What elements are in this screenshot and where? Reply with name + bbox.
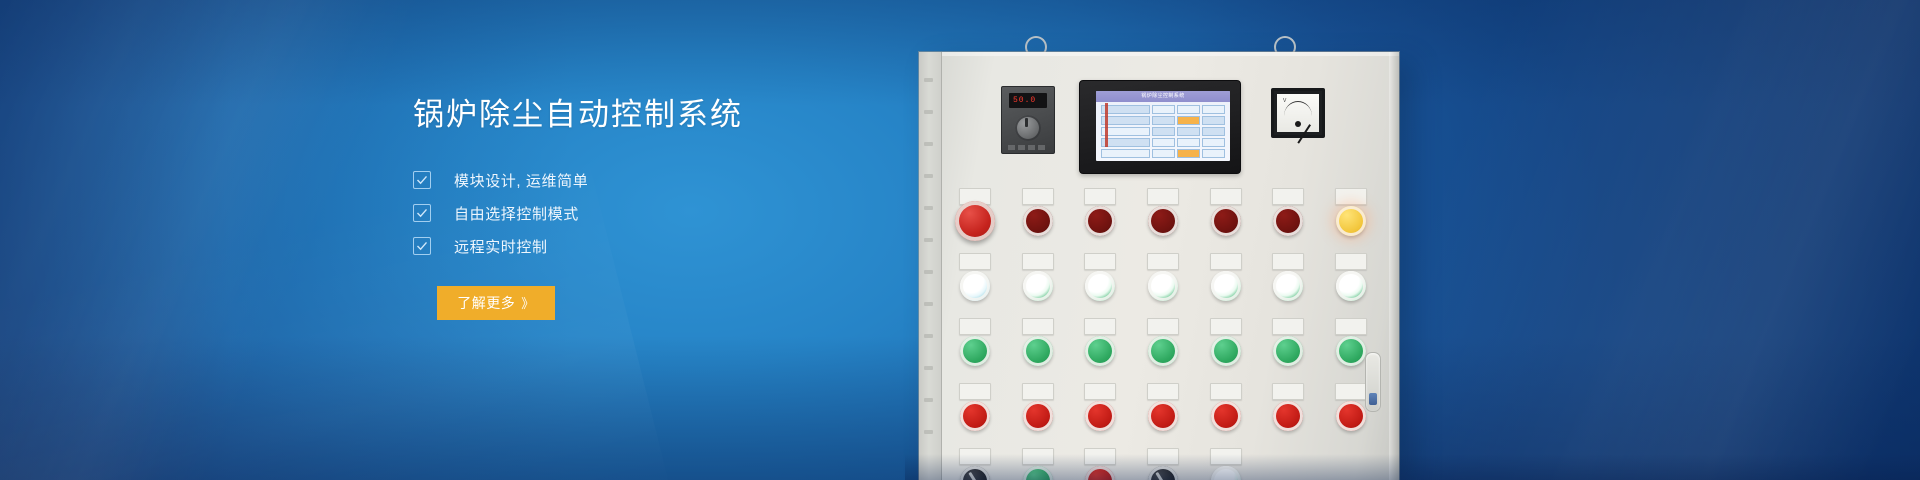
hmi-cell [1202,138,1225,147]
button-tag [959,383,991,400]
hero-banner: 锅炉除尘自动控制系统 模块设计, 运维简单 自由选择控制模式 远程实时控制 [0,0,1920,480]
hmi-cell [1177,138,1200,147]
button-tag [1022,318,1054,335]
button-tag [1084,383,1116,400]
button-tag [1335,188,1367,205]
white-indicator-row [953,265,1373,309]
hmi-data-grid [1101,105,1225,157]
button-cell [1141,330,1185,374]
floor-shadow [905,454,1920,480]
button-cell [1141,395,1185,439]
hmi-cell [1152,127,1175,136]
button-cell [1204,395,1248,439]
hmi-cell [1101,127,1150,136]
button-cell [1016,200,1060,244]
button-cell [1204,200,1248,244]
indicator-lamp[interactable] [1085,206,1115,236]
emergency-stop-row [953,200,1373,244]
indicator-lamp[interactable] [1211,336,1241,366]
hmi-cell [1177,149,1200,158]
button-cell [1266,330,1310,374]
button-cell [1016,265,1060,309]
table-row [1101,127,1225,136]
button-tag [1272,383,1304,400]
button-tag [1084,188,1116,205]
button-tag [1272,253,1304,270]
button-cell [1141,265,1185,309]
feature-list: 模块设计, 运维简单 自由选择控制模式 远程实时控制 [413,164,973,263]
control-cabinet-photo: 50.0 锅炉除尘控制系统 [905,0,1920,480]
hmi-cell [1177,116,1200,125]
button-tag [1335,253,1367,270]
hmi-touch-panel: 锅炉除尘控制系统 [1079,80,1241,174]
control-cabinet: 50.0 锅炉除尘控制系统 [919,52,1399,480]
table-row [1101,116,1225,125]
button-tag [1210,318,1242,335]
button-cell [1078,265,1122,309]
meter-face: V [1277,94,1319,132]
indicator-lamp[interactable] [1085,336,1115,366]
indicator-lamp[interactable] [1148,206,1178,236]
button-tag [1272,318,1304,335]
indicator-lamp[interactable] [1273,401,1303,431]
vfd-button-row [1008,145,1048,150]
hmi-cell [1177,105,1200,114]
button-cell [1329,265,1373,309]
indicator-lamp[interactable] [1085,401,1115,431]
hmi-cell [1202,116,1225,125]
button-tag [1147,383,1179,400]
analog-voltmeter: V [1271,88,1325,138]
indicator-lamp[interactable] [1023,336,1053,366]
indicator-lamp-lit[interactable] [1336,206,1366,236]
red-indicator-row [953,395,1373,439]
hmi-cell [1202,149,1225,158]
button-cell [1204,330,1248,374]
indicator-lamp[interactable] [1148,271,1178,301]
button-tag [1022,188,1054,205]
button-tag [1147,188,1179,205]
button-cell [953,330,997,374]
button-tag [1272,188,1304,205]
indicator-lamp[interactable] [1085,271,1115,301]
indicator-lamp[interactable] [1023,271,1053,301]
hmi-cell [1177,127,1200,136]
indicator-lamp[interactable] [1273,206,1303,236]
indicator-lamp[interactable] [1336,401,1366,431]
table-row [1101,149,1225,158]
button-tag [1210,253,1242,270]
vfd-keypad: 50.0 [1001,86,1055,154]
indicator-lamp[interactable] [1148,336,1178,366]
button-cell [1078,395,1122,439]
hmi-screen: 锅炉除尘控制系统 [1096,91,1230,161]
indicator-lamp[interactable] [1273,271,1303,301]
learn-more-button[interactable]: 了解更多 》 [437,286,555,320]
indicator-lamp[interactable] [1336,336,1366,366]
feature-label: 模块设计, 运维简单 [454,170,588,191]
meter-scale-arc [1284,101,1312,116]
chevron-right-icon: 》 [521,293,535,312]
cabinet-top-edge [919,52,1399,56]
button-tag [1084,318,1116,335]
hmi-screen-title-bar: 锅炉除尘控制系统 [1096,91,1230,102]
vfd-display: 50.0 [1009,93,1047,108]
button-cell [1016,395,1060,439]
button-tag [1084,253,1116,270]
list-item: 模块设计, 运维简单 [413,164,973,197]
button-tag [1022,383,1054,400]
checkbox-check-icon [413,171,431,189]
indicator-lamp[interactable] [960,336,990,366]
hmi-cell [1152,138,1175,147]
indicator-lamp[interactable] [1023,401,1053,431]
vfd-rotary-knob [1015,115,1041,141]
checkbox-check-icon [413,204,431,222]
list-item: 远程实时控制 [413,230,973,263]
button-tag [1335,318,1367,335]
indicator-lamp[interactable] [1023,206,1053,236]
indicator-lamp[interactable] [1211,206,1241,236]
hmi-cell [1202,127,1225,136]
learn-more-label: 了解更多 [457,293,515,313]
indicator-lamp[interactable] [1336,271,1366,301]
button-tag [959,318,991,335]
button-tag [1335,383,1367,400]
meter-unit-label: V [1283,98,1286,104]
button-tag [1022,253,1054,270]
indicator-lamp[interactable] [1211,271,1241,301]
hmi-screen-title: 锅炉除尘控制系统 [1096,91,1230,102]
hmi-cell [1101,116,1150,125]
vfd-digits: 50.0 [1013,96,1036,105]
button-cell [1204,265,1248,309]
button-cell [1266,395,1310,439]
indicator-lamp[interactable] [1273,336,1303,366]
hmi-cell [1101,149,1150,158]
button-cell [1141,200,1185,244]
button-tag [1147,318,1179,335]
button-cell [1329,200,1373,244]
button-cell [1016,330,1060,374]
page-title: 锅炉除尘自动控制系统 [413,96,973,135]
hmi-cell [1152,105,1175,114]
indicator-button-grid [953,200,1373,480]
checkbox-check-icon [413,237,431,255]
hmi-alarm-strip [1105,103,1108,147]
hero-content: 锅炉除尘自动控制系统 模块设计, 运维简单 自由选择控制模式 远程实时控制 [413,96,973,320]
cabinet-door-handle[interactable] [1365,352,1381,412]
hmi-cell [1152,149,1175,158]
button-cell [1078,200,1122,244]
button-cell [1266,200,1310,244]
button-cell [1266,265,1310,309]
hmi-cell [1202,105,1225,114]
feature-label: 远程实时控制 [454,236,548,257]
feature-label: 自由选择控制模式 [454,203,579,224]
indicator-lamp[interactable] [960,401,990,431]
button-tag [1147,253,1179,270]
hmi-cell [1101,138,1150,147]
table-row [1101,138,1225,147]
table-row [1101,105,1225,114]
hmi-cell [1101,105,1150,114]
cabinet-right-edge [1389,52,1399,480]
button-tag [1210,383,1242,400]
indicator-lamp[interactable] [1148,401,1178,431]
button-cell [1078,330,1122,374]
list-item: 自由选择控制模式 [413,197,973,230]
hmi-cell [1152,116,1175,125]
button-tag [1210,188,1242,205]
green-indicator-row [953,330,1373,374]
button-cell [953,395,997,439]
indicator-lamp[interactable] [1211,401,1241,431]
